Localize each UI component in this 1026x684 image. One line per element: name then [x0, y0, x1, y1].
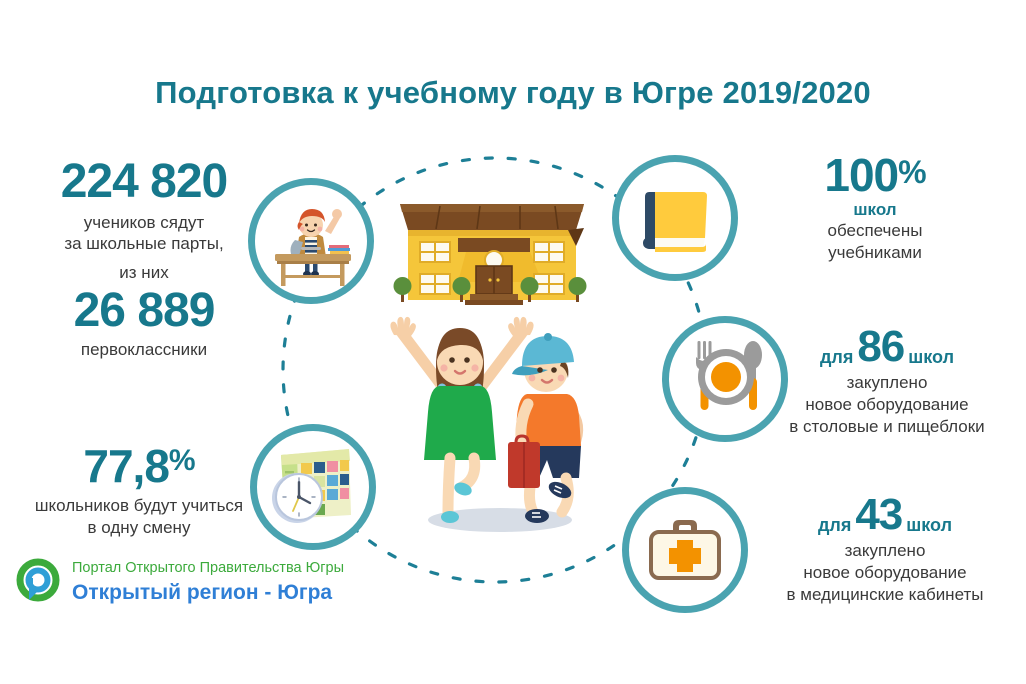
stat-canteens-line1: закуплено [748, 372, 1026, 394]
school-building-icon [394, 204, 587, 305]
stat-pupils-line1: учеников сядут [20, 212, 268, 233]
stat-canteens-unit: школ [908, 347, 954, 367]
stat-textbooks-text: 100% школ обеспечены учебниками [740, 152, 1010, 264]
stat-one-shift-line1: школьников будут учиться [10, 495, 268, 517]
stat-textbooks-line1: обеспечены [740, 220, 1010, 242]
stat-one-shift-text: 77,8% школьников будут учиться в одну см… [10, 443, 268, 538]
stat-medical-text: для43школ закуплено новое оборудование в… [744, 493, 1026, 605]
stat-canteens-number: 86 [853, 322, 908, 371]
stat-medical-line2: новое оборудование [744, 562, 1026, 583]
stat-pupils-line2: за школьные парты, [20, 233, 268, 254]
stat-textbooks-unit: школ [740, 200, 1010, 220]
stat-textbooks-number-row: 100% [740, 152, 1010, 198]
stat-one-shift-number-row: 77,8% [10, 443, 268, 489]
logo[interactable]: Портал Открытого Правительства Югры Откр… [14, 558, 374, 620]
stat-pupils-number: 224 820 [20, 158, 268, 206]
stat-canteens-text: для86школ закуплено новое оборудование в… [748, 325, 1026, 437]
stat-first-graders-label: первоклассники [20, 339, 268, 360]
logo-line1: Портал Открытого Правительства Югры [72, 561, 344, 577]
pupil-at-desk-icon [255, 185, 367, 297]
stat-first-graders-number: 26 889 [20, 287, 268, 335]
center-illustration [370, 190, 640, 540]
page-title: Подготовка к учебному году в Югре 2019/2… [0, 75, 1026, 111]
stat-canteens-number-row: для86школ [748, 325, 1026, 369]
calendar-clock-icon-circle [250, 424, 376, 550]
stat-medical-prefix: для [818, 515, 851, 535]
open-region-logo-icon [14, 558, 66, 614]
stat-canteens-line3: в столовые и пищеблоки [748, 416, 1026, 437]
stat-medical-number-row: для43школ [744, 493, 1026, 537]
stat-one-shift-line2: в одну смену [10, 517, 268, 538]
stat-canteens-line2: новое оборудование [748, 394, 1026, 415]
stat-textbooks-line2: учебниками [740, 242, 1010, 264]
infographic-canvas: Подготовка к учебному году в Югре 2019/2… [0, 0, 1026, 684]
stat-canteens-prefix: для [820, 347, 853, 367]
stat-one-shift-percent-sign: % [169, 444, 195, 477]
stat-medical-line1: закуплено [744, 540, 1026, 562]
two-children-icon [390, 317, 581, 523]
stat-medical-line3: в медицинские кабинеты [744, 584, 1026, 605]
stat-one-shift-number: 77,8 [83, 440, 169, 492]
logo-text: Портал Открытого Правительства Югры Откр… [72, 561, 344, 605]
stat-textbooks-number: 100 [824, 149, 898, 201]
logo-line2: Открытый регион - Югра [72, 581, 344, 605]
first-aid-kit-icon [629, 494, 741, 606]
stat-pupils-connector: из них [20, 262, 268, 283]
stat-medical-number: 43 [851, 490, 906, 539]
calendar-clock-icon [257, 431, 369, 543]
stat-textbooks-percent-sign: % [898, 154, 925, 190]
stat-pupils-text: 224 820 учеников сядут за школьные парты… [20, 158, 268, 360]
first-aid-kit-icon-circle [622, 487, 748, 613]
stat-medical-unit: школ [906, 515, 952, 535]
